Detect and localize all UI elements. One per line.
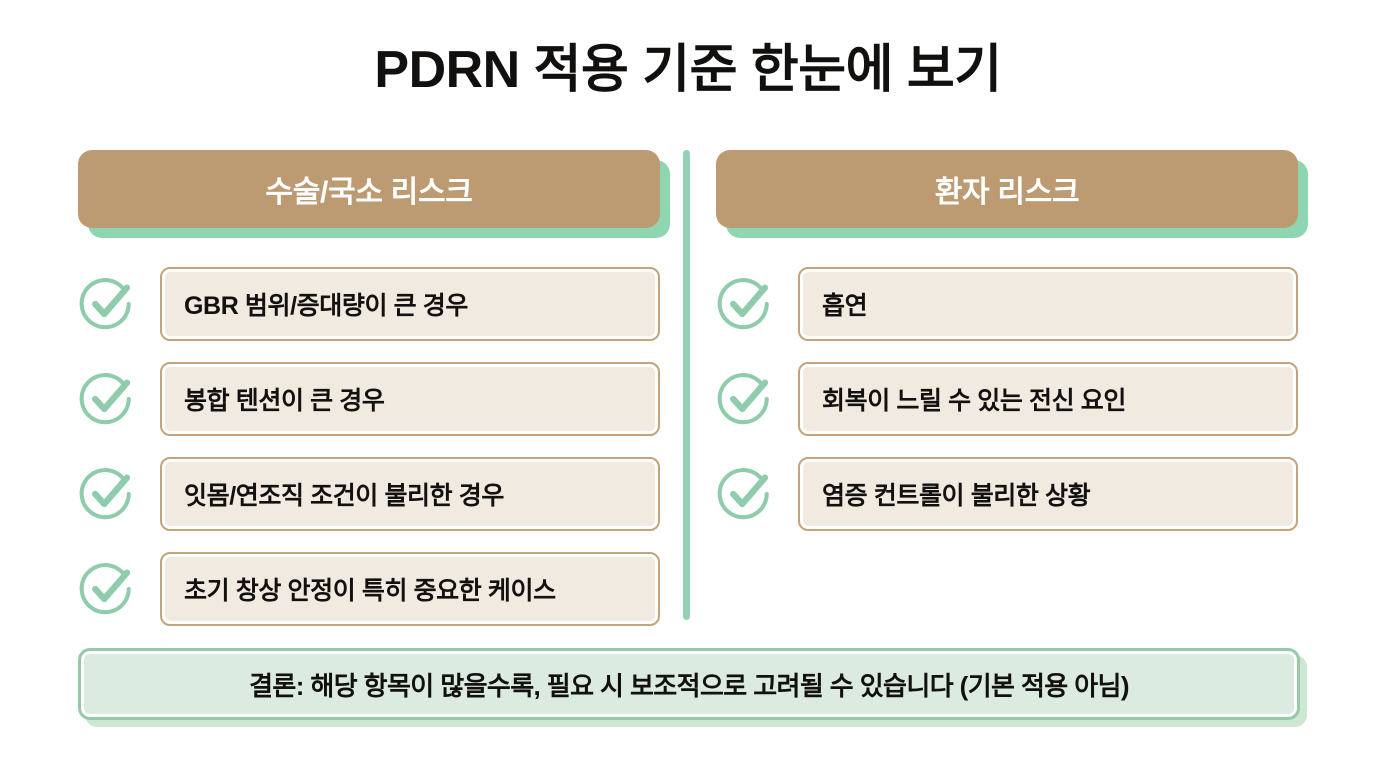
- check-circle-icon: [78, 560, 136, 618]
- item-label-box: 잇몸/연조직 조건이 불리한 경우: [160, 457, 660, 531]
- list-item[interactable]: 봉합 텐션이 큰 경우: [78, 362, 660, 436]
- item-label-box: GBR 범위/증대량이 큰 경우: [160, 267, 660, 341]
- item-label: 잇몸/연조직 조건이 불리한 경우: [184, 476, 504, 512]
- column-header-right: 환자 리스크: [716, 150, 1298, 228]
- list-item[interactable]: 회복이 느릴 수 있는 전신 요인: [716, 362, 1298, 436]
- item-label: 염증 컨트롤이 불리한 상황: [822, 476, 1090, 512]
- item-label: 초기 창상 안정이 특히 중요한 케이스: [184, 571, 556, 607]
- check-circle-icon: [716, 275, 774, 333]
- list-item[interactable]: 잇몸/연조직 조건이 불리한 경우: [78, 457, 660, 531]
- item-label-box: 봉합 텐션이 큰 경우: [160, 362, 660, 436]
- check-circle-icon: [78, 275, 136, 333]
- list-item[interactable]: 초기 창상 안정이 특히 중요한 케이스: [78, 552, 660, 626]
- columns-container: 수술/국소 리스크 GBR 범위/증대량이 큰 경우 봉합 텐션이 큰 경우: [0, 150, 1376, 620]
- item-label: 회복이 느릴 수 있는 전신 요인: [822, 381, 1126, 417]
- column-surgical-risk: 수술/국소 리스크 GBR 범위/증대량이 큰 경우 봉합 텐션이 큰 경우: [78, 150, 660, 647]
- check-circle-icon: [78, 465, 136, 523]
- column-patient-risk: 환자 리스크 흡연 회복이 느릴 수 있는 전신 요인: [716, 150, 1298, 552]
- column-header-wrap-left: 수술/국소 리스크: [78, 150, 660, 238]
- column-header-wrap-right: 환자 리스크: [716, 150, 1298, 238]
- slide-root: PDRN 적용 기준 한눈에 보기 수술/국소 리스크 GBR 범위/증대량이 …: [0, 0, 1376, 768]
- item-label: 봉합 텐션이 큰 경우: [184, 381, 384, 417]
- check-circle-icon: [716, 465, 774, 523]
- item-label-box: 회복이 느릴 수 있는 전신 요인: [798, 362, 1298, 436]
- list-item[interactable]: 흡연: [716, 267, 1298, 341]
- conclusion-banner-wrap: 결론: 해당 항목이 많을수록, 필요 시 보조적으로 고려될 수 있습니다 (…: [78, 648, 1300, 720]
- list-item[interactable]: GBR 범위/증대량이 큰 경우: [78, 267, 660, 341]
- check-circle-icon: [716, 370, 774, 428]
- list-item[interactable]: 염증 컨트롤이 불리한 상황: [716, 457, 1298, 531]
- item-label-box: 초기 창상 안정이 특히 중요한 케이스: [160, 552, 660, 626]
- check-circle-icon: [78, 370, 136, 428]
- column-header-left: 수술/국소 리스크: [78, 150, 660, 228]
- item-label: 흡연: [822, 286, 867, 322]
- item-label-box: 염증 컨트롤이 불리한 상황: [798, 457, 1298, 531]
- conclusion-banner: 결론: 해당 항목이 많을수록, 필요 시 보조적으로 고려될 수 있습니다 (…: [78, 648, 1300, 720]
- page-title: PDRN 적용 기준 한눈에 보기: [0, 42, 1376, 99]
- item-label: GBR 범위/증대량이 큰 경우: [184, 286, 468, 322]
- item-label-box: 흡연: [798, 267, 1298, 341]
